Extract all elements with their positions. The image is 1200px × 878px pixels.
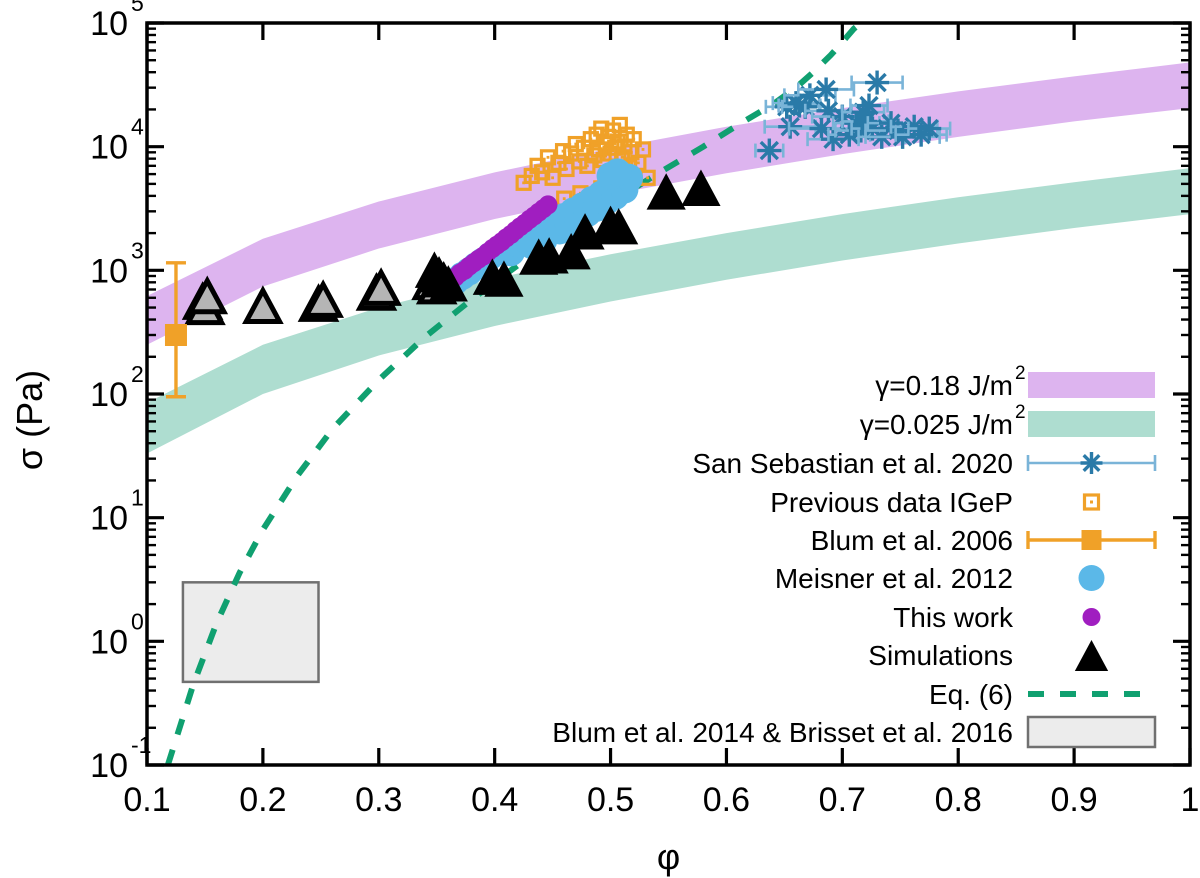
x-tick-label: 0.7 <box>819 781 866 819</box>
legend-filled-square <box>1082 530 1102 550</box>
y-tick-mantissa: 10 <box>90 5 128 43</box>
y-axis-title-text: σ (Pa) <box>9 370 50 470</box>
legend-gray-rect <box>1028 717 1155 747</box>
y-tick-mantissa: 10 <box>90 252 128 290</box>
x-tick-label: 0.3 <box>355 781 402 819</box>
legend-label: γ=0.025 J/m <box>860 409 1013 440</box>
open-square-center-dot <box>547 156 550 159</box>
region-blum_2014_brisset_2016 <box>183 582 319 682</box>
y-tick-exponent: 4 <box>131 114 144 140</box>
legend-label: Blum et al. 2006 <box>811 525 1013 556</box>
x-tick-label: 0.8 <box>935 781 982 819</box>
y-tick-mantissa: 10 <box>90 129 128 167</box>
legend-label-superscript: 2 <box>1015 402 1026 423</box>
x-tick-label: 0.5 <box>587 781 634 819</box>
open-square-center-dot <box>586 164 589 167</box>
legend-open-square-dot <box>1090 501 1093 504</box>
legend-blue-circle <box>1079 565 1105 591</box>
x-tick-label: 0.9 <box>1050 781 1097 819</box>
circle-marker <box>604 158 632 186</box>
y-tick-exponent: 1 <box>131 485 144 511</box>
figure-container: 10-11001011021031041050.10.20.30.40.50.6… <box>0 0 1200 878</box>
open-square-center-dot <box>551 176 554 179</box>
x-tick-label: 1 <box>1181 781 1200 819</box>
legend-label: This work <box>893 602 1014 633</box>
open-square-center-dot <box>632 138 635 141</box>
legend-label: Previous data IGeP <box>770 487 1013 518</box>
y-tick-label: 103 <box>90 237 144 290</box>
open-square-center-dot <box>541 171 544 174</box>
open-square-center-dot <box>630 151 633 154</box>
legend-label: Simulations <box>868 640 1013 671</box>
open-square-center-dot <box>618 123 621 126</box>
x-tick-label: 0.4 <box>471 781 518 819</box>
filled-square-marker <box>165 324 187 346</box>
y-tick-mantissa: 10 <box>90 747 128 785</box>
dot-marker <box>538 195 557 214</box>
legend-item-gray-rect[interactable]: Blum et al. 2014 & Brisset et al. 2016 <box>552 717 1155 748</box>
legend-label: San Sebastian et al. 2020 <box>692 448 1013 479</box>
y-tick-label: 102 <box>90 361 144 414</box>
y-axis-title: σ (Pa) <box>9 370 50 470</box>
y-tick-label: 101 <box>90 485 144 538</box>
x-tick-label: 0.6 <box>703 781 750 819</box>
x-tick-label: 0.2 <box>239 781 286 819</box>
x-axis-title: φ <box>657 836 680 877</box>
x-axis-tick-labels: 0.10.20.30.40.50.60.70.80.91 <box>123 781 1199 819</box>
y-tick-label: 10-1 <box>90 732 151 785</box>
open-square-center-dot <box>646 176 649 179</box>
y-tick-mantissa: 10 <box>90 500 128 538</box>
x-axis-title-text: φ <box>657 836 680 877</box>
legend-label: γ=0.18 J/m <box>875 370 1013 401</box>
legend-label: Blum et al. 2014 & Brisset et al. 2016 <box>552 717 1013 748</box>
y-tick-label: 104 <box>90 114 144 167</box>
y-tick-exponent: 2 <box>131 361 144 387</box>
y-tick-exponent: 3 <box>131 237 144 263</box>
y-tick-label: 105 <box>90 0 144 43</box>
open-square-center-dot <box>621 156 624 159</box>
y-tick-mantissa: 10 <box>90 376 128 414</box>
y-tick-mantissa: 10 <box>90 623 128 661</box>
open-square-center-dot <box>565 168 568 171</box>
legend-swatch-teal-band <box>1028 411 1155 437</box>
legend-label: Meisner et al. 2012 <box>775 563 1013 594</box>
open-square-center-dot <box>530 175 533 178</box>
legend-label: Eq. (6) <box>929 679 1013 710</box>
legend-purple-dot <box>1083 608 1101 626</box>
legend-swatch-purple-band <box>1028 372 1155 398</box>
chart-svg: 10-11001011021031041050.10.20.30.40.50.6… <box>0 0 1200 878</box>
y-tick-exponent: 0 <box>131 608 144 634</box>
x-tick-label: 0.1 <box>123 781 170 819</box>
y-tick-label: 100 <box>90 608 144 661</box>
open-square-center-dot <box>642 148 645 151</box>
legend-label-superscript: 2 <box>1015 363 1026 384</box>
open-square-center-dot <box>637 161 640 164</box>
y-tick-exponent: 5 <box>131 0 144 16</box>
open-square-center-dot <box>563 197 566 200</box>
y-axis-tick-labels: 10-1100101102103104105 <box>90 0 151 785</box>
